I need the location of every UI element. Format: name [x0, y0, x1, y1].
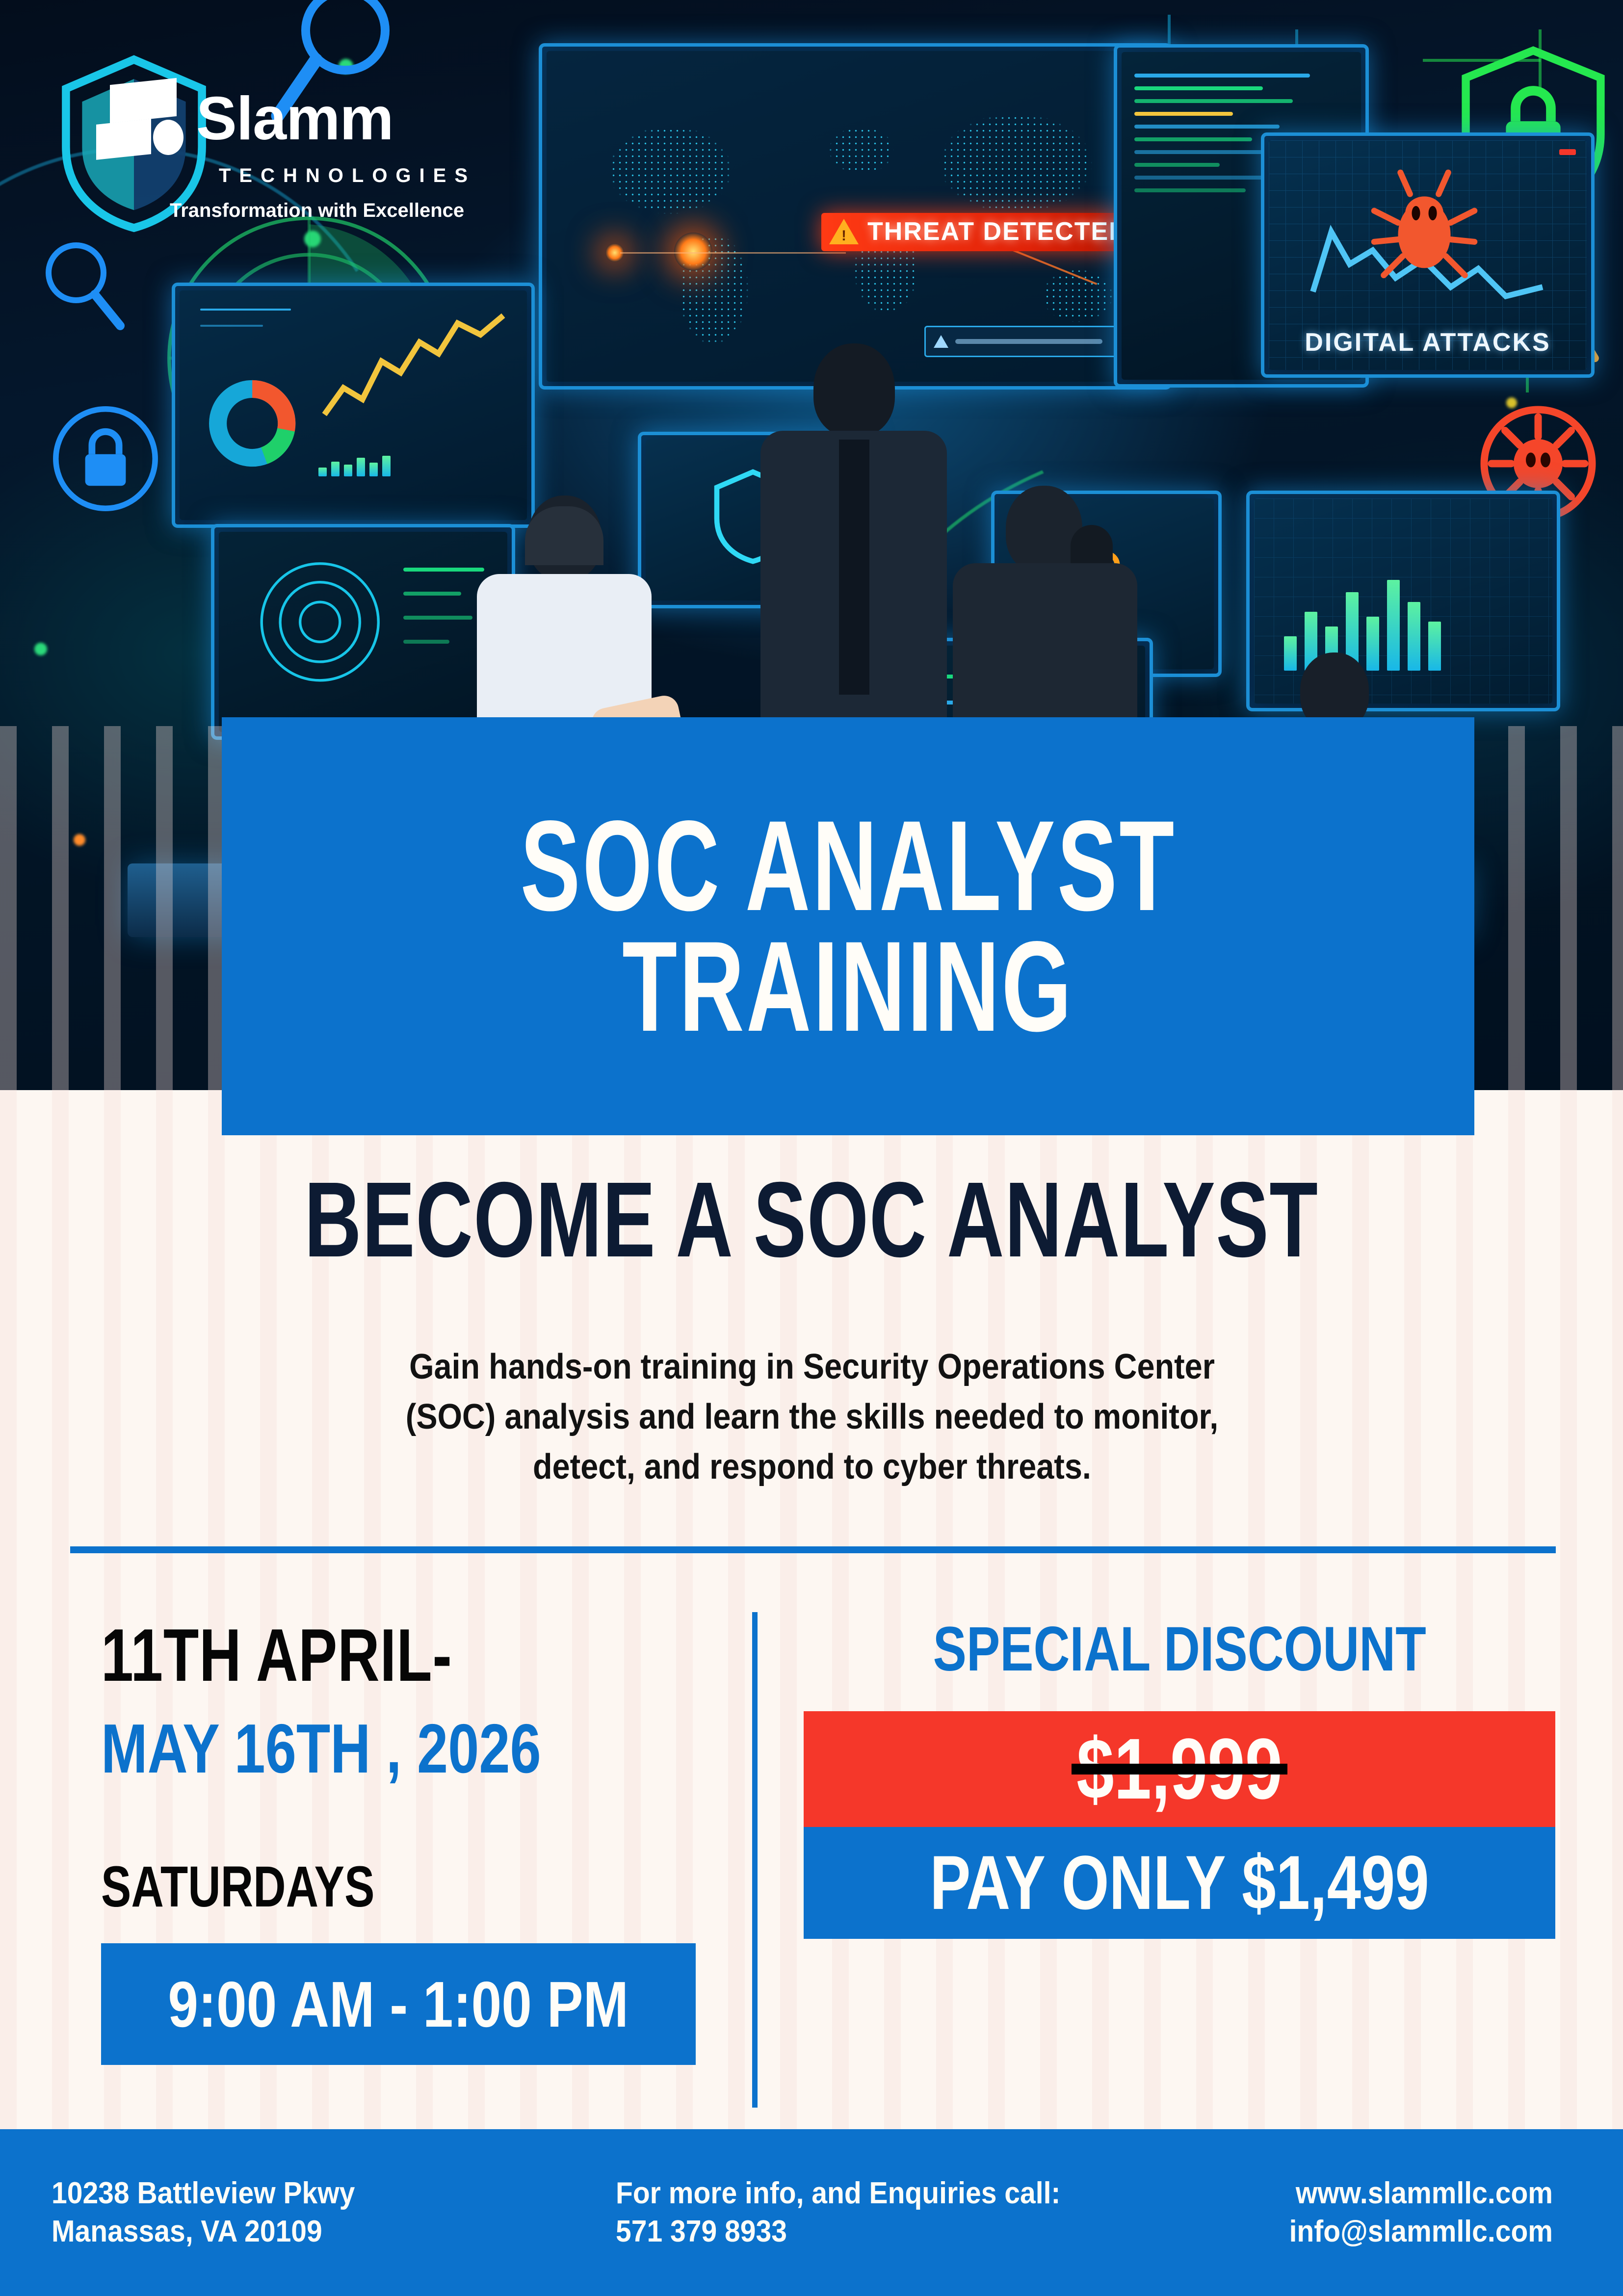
body-line-1: Gain hands-on training in Security Opera… [329, 1342, 1296, 1392]
page-headline: BECOME A SOC ANALYST [0, 1167, 1623, 1274]
new-price-box: PAY ONLY $1,499 [804, 1827, 1555, 1939]
slamm-logomark-icon [96, 78, 185, 161]
bar-chart-graphic [318, 456, 391, 476]
date-end: MAY 16TH , 2026 [101, 1712, 719, 1785]
phone-number[interactable]: 571 379 8933 [616, 2213, 1117, 2251]
body-line-3: detect, and respond to cyber threats. [329, 1442, 1296, 1492]
schedule-day: SATURDAYS [101, 1858, 719, 1916]
title-line-2: TRAINING [623, 926, 1074, 1047]
brand-subtitle: TECHNOLOGIES [219, 165, 518, 187]
brand-tagline: Transformation with Excellence [170, 200, 518, 222]
schedule-time-box: 9:00 AM - 1:00 PM [101, 1943, 696, 2065]
brand-name: Slamm [196, 92, 393, 147]
schedule-time: 9:00 AM - 1:00 PM [168, 1967, 629, 2041]
address-line-1: 10238 Battleview Pkwy [52, 2174, 539, 2213]
bug-icon [1351, 168, 1497, 287]
brand-logo: Slamm TECHNOLOGIES Transformation with E… [96, 78, 518, 222]
threat-detected-banner: THREAT DETECTED [821, 213, 1141, 251]
monitor-digital-attacks: DIGITAL ATTACKS [1261, 132, 1595, 378]
discount-title: SPECIAL DISCOUNT [804, 1618, 1555, 1681]
email-address[interactable]: info@slammllc.com [1201, 2213, 1553, 2251]
footer-address: 10238 Battleview Pkwy Manassas, VA 20109 [52, 2174, 581, 2251]
strikethrough-line [1072, 1764, 1287, 1774]
new-price: PAY ONLY $1,499 [930, 1839, 1429, 1927]
circuit-trace [1423, 59, 1541, 62]
body-line-2: (SOC) analysis and learn the skills need… [329, 1392, 1296, 1442]
old-price-box: $1,999 [804, 1711, 1555, 1827]
threat-detected-label: THREAT DETECTED [867, 217, 1128, 246]
horizontal-divider [70, 1546, 1556, 1553]
body-paragraph: Gain hands-on training in Security Opera… [275, 1342, 1349, 1492]
vertical-divider [752, 1612, 758, 2108]
line-chart-graphic [312, 304, 520, 437]
poster-root: THREAT DETECTED [0, 0, 1623, 2296]
title-line-1: SOC ANALYST [520, 806, 1176, 926]
date-start: 11TH APRIL- [101, 1618, 719, 1693]
monitor-worldmap: THREAT DETECTED [539, 43, 1172, 390]
schedule-block: 11TH APRIL- MAY 16TH , 2026 SATURDAYS 9:… [101, 1618, 719, 2065]
footer-bar: 10238 Battleview Pkwy Manassas, VA 20109… [0, 2129, 1623, 2296]
website-url[interactable]: www.slammllc.com [1201, 2174, 1553, 2213]
lock-icon [49, 402, 162, 515]
digital-attacks-label: DIGITAL ATTACKS [1269, 328, 1587, 357]
alert-chip [924, 326, 1135, 357]
attack-path [620, 252, 846, 254]
title-banner: SOC ANALYST TRAINING [222, 717, 1474, 1135]
magnifier-icon [29, 235, 132, 343]
footer-contact: For more info, and Enquiries call: 571 3… [616, 2174, 1160, 2251]
headline-text: BECOME A SOC ANALYST [304, 1167, 1318, 1274]
radar-icon [254, 552, 386, 692]
monitor-analytics [172, 283, 535, 528]
contact-prompt: For more info, and Enquiries call: [616, 2174, 1117, 2213]
address-line-2: Manassas, VA 20109 [52, 2213, 539, 2251]
pricing-block: SPECIAL DISCOUNT $1,999 PAY ONLY $1,499 [804, 1618, 1555, 1939]
footer-web: www.slammllc.com info@slammllc.com [1170, 2174, 1553, 2251]
donut-chart-graphic [200, 359, 304, 488]
monitor-left-lower [211, 524, 515, 740]
alert-triangle-icon [829, 219, 859, 244]
threat-hotspot [674, 233, 712, 271]
